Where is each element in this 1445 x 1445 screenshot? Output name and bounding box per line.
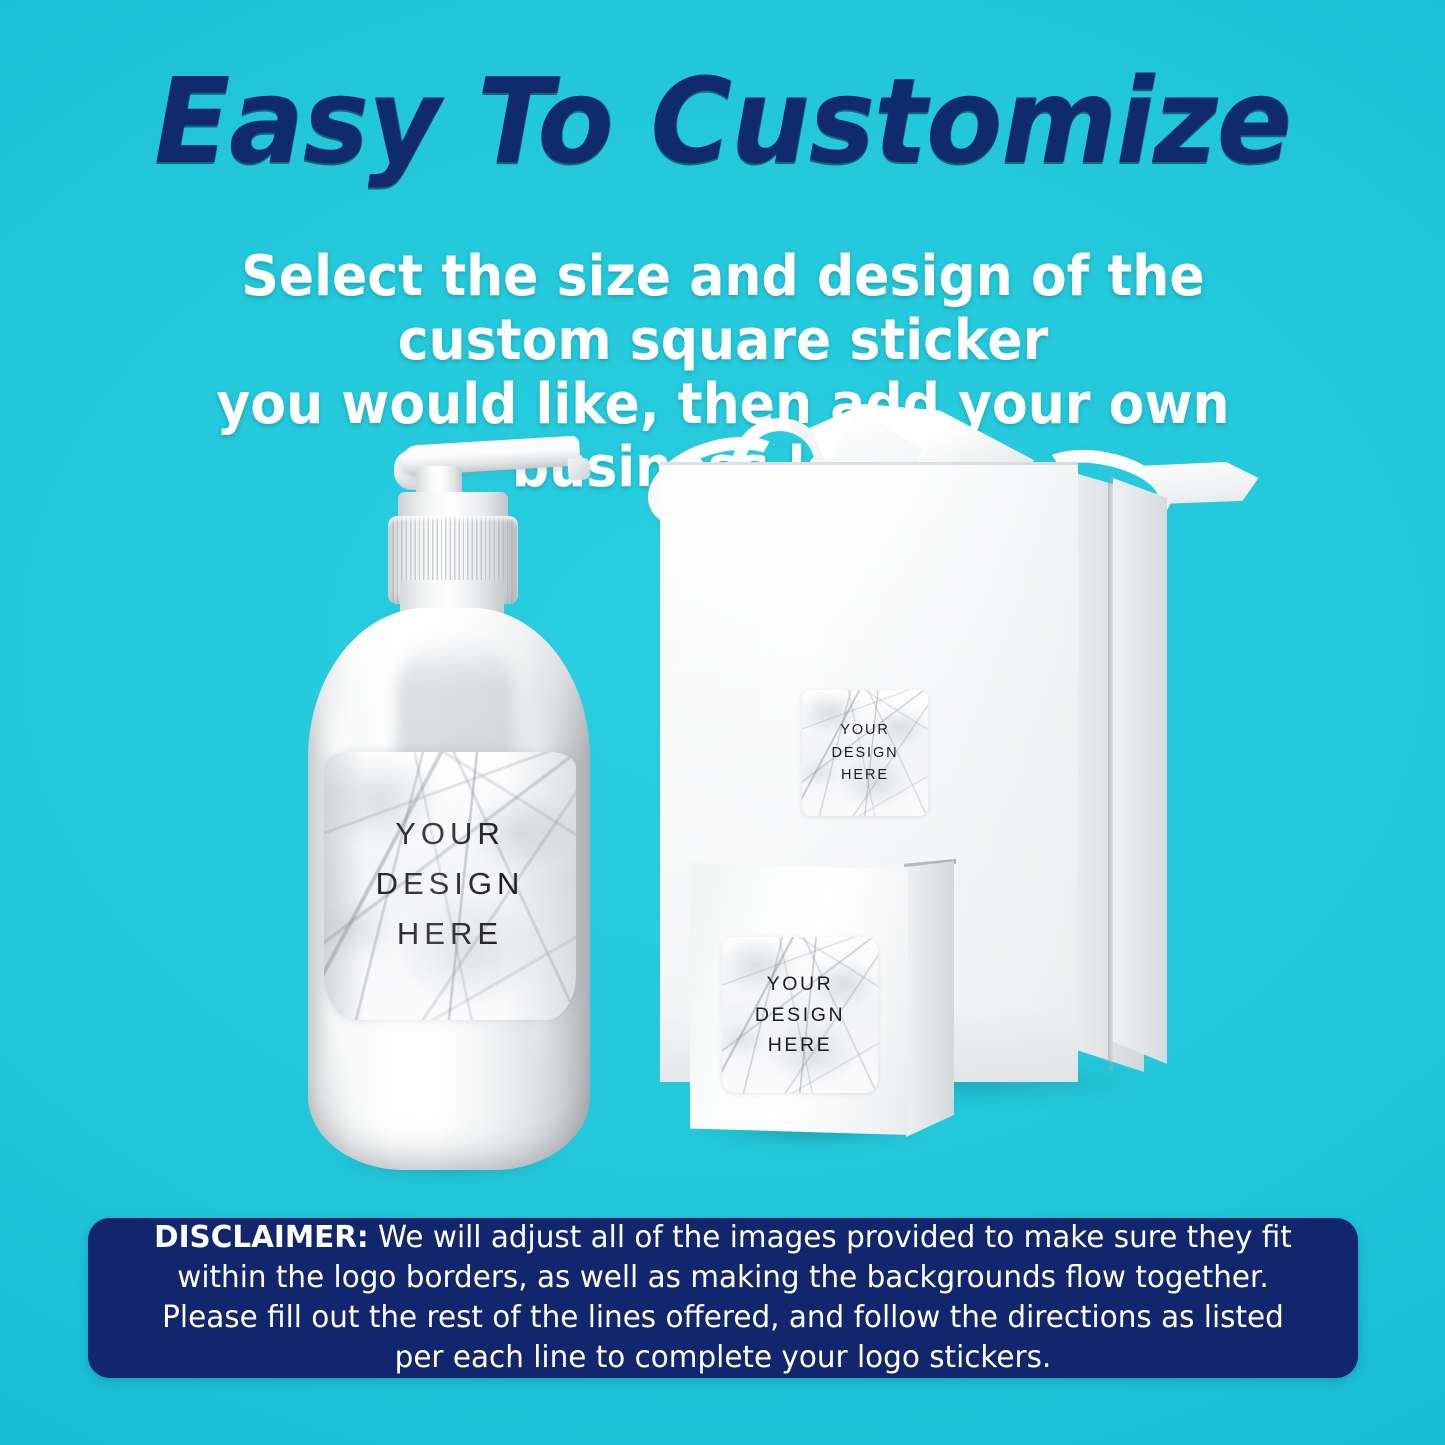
label-line-3: HERE — [397, 909, 503, 959]
small-box-sticker: YOUR DESIGN HERE — [722, 937, 878, 1093]
gift-box-seam — [1108, 476, 1113, 1070]
small-box-sticker-text: YOUR DESIGN HERE — [722, 937, 878, 1093]
disclaimer-banner: DISCLAIMER: We will adjust all of the im… — [88, 1218, 1358, 1378]
disclaimer-text: DISCLAIMER: We will adjust all of the im… — [140, 1218, 1306, 1379]
page-title: Easy To Customize — [43, 62, 1401, 180]
bottle-label-curve-shading — [324, 752, 576, 1020]
disclaimer-label: DISCLAIMER: — [154, 1220, 369, 1255]
sticker-line-2: DESIGN — [832, 742, 899, 765]
gift-box-sticker: YOUR DESIGN HERE — [802, 690, 928, 816]
sticker-line-1: YOUR — [767, 969, 834, 999]
bottle-label-text: YOUR DESIGN HERE — [324, 752, 576, 1020]
label-line-2: DESIGN — [376, 859, 525, 909]
sticker-line-3: HERE — [841, 764, 889, 787]
promo-graphic: Easy To Customize Select the size and de… — [0, 0, 1445, 1445]
label-line-1: YOUR — [395, 809, 505, 859]
pump-bottle-mockup: YOUR DESIGN HERE — [300, 430, 600, 1170]
gift-box-lid-line — [660, 462, 1078, 465]
subtitle-line-1: Select the size and design of the custom… — [137, 245, 1309, 373]
sticker-line-2: DESIGN — [755, 1000, 845, 1030]
gift-box-side-panel-2 — [1113, 478, 1167, 1064]
pump-nozzle-tip — [567, 457, 590, 480]
sticker-line-1: YOUR — [840, 719, 890, 742]
bottle-label: YOUR DESIGN HERE — [324, 752, 576, 1020]
sticker-line-3: HERE — [768, 1030, 833, 1060]
small-box-side-panel — [906, 861, 954, 1137]
small-box-mockup: YOUR DESIGN HERE — [672, 845, 972, 1165]
gift-box-sticker-text: YOUR DESIGN HERE — [802, 690, 928, 816]
